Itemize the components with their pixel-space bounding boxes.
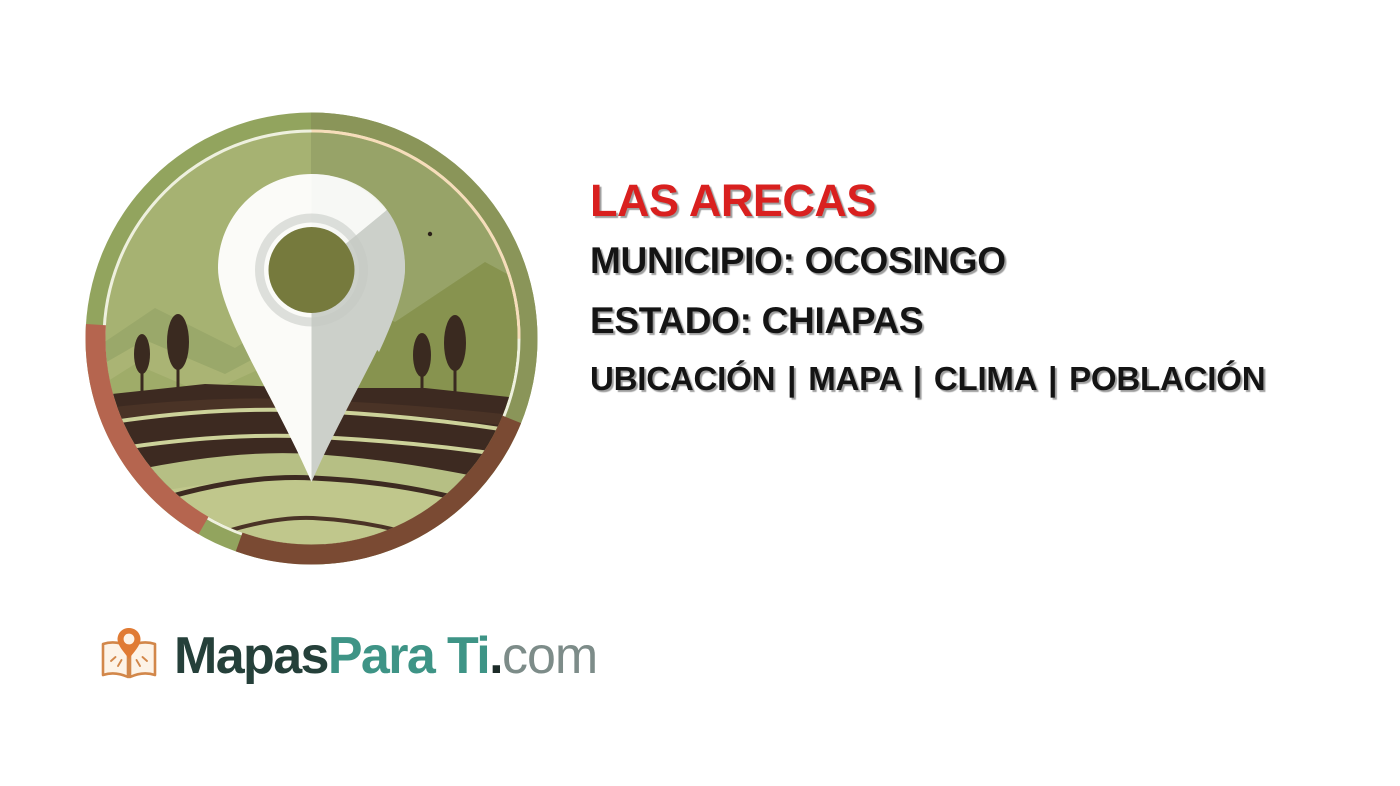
brand-wordmark[interactable]: MapasPara Ti.com: [174, 630, 597, 682]
open-book-pin-icon: [98, 625, 160, 687]
link-mapa[interactable]: MAPA: [808, 360, 901, 397]
municipality-line: MUNICIPIO: OCOSINGO: [590, 242, 1390, 279]
link-clima[interactable]: CLIMA: [934, 360, 1036, 397]
link-separator-3: |: [1045, 360, 1060, 397]
page-root: LAS ARECAS MUNICIPIO: OCOSINGO ESTADO: C…: [0, 0, 1400, 786]
brand-logo[interactable]: MapasPara Ti.com: [98, 618, 597, 694]
link-poblacion[interactable]: POBLACIÓN: [1069, 360, 1265, 397]
location-info-block: LAS ARECAS MUNICIPIO: OCOSINGO ESTADO: C…: [590, 178, 1390, 395]
state-line: ESTADO: CHIAPAS: [590, 302, 1390, 339]
link-ubicacion[interactable]: UBICACIÓN: [590, 360, 775, 397]
page-title: LAS ARECAS: [590, 178, 1390, 223]
wordmark-com: com: [502, 627, 597, 685]
link-separator-1: |: [784, 360, 799, 397]
wordmark-mapas: Mapas: [174, 627, 328, 685]
wordmark-dot: .: [489, 627, 502, 685]
link-separator-2: |: [910, 360, 925, 397]
section-links: UBICACIÓN | MAPA | CLIMA | POBLACIÓN: [590, 362, 1390, 395]
location-landscape-badge-icon: [85, 112, 538, 565]
wordmark-parati: Para Ti: [328, 627, 489, 685]
